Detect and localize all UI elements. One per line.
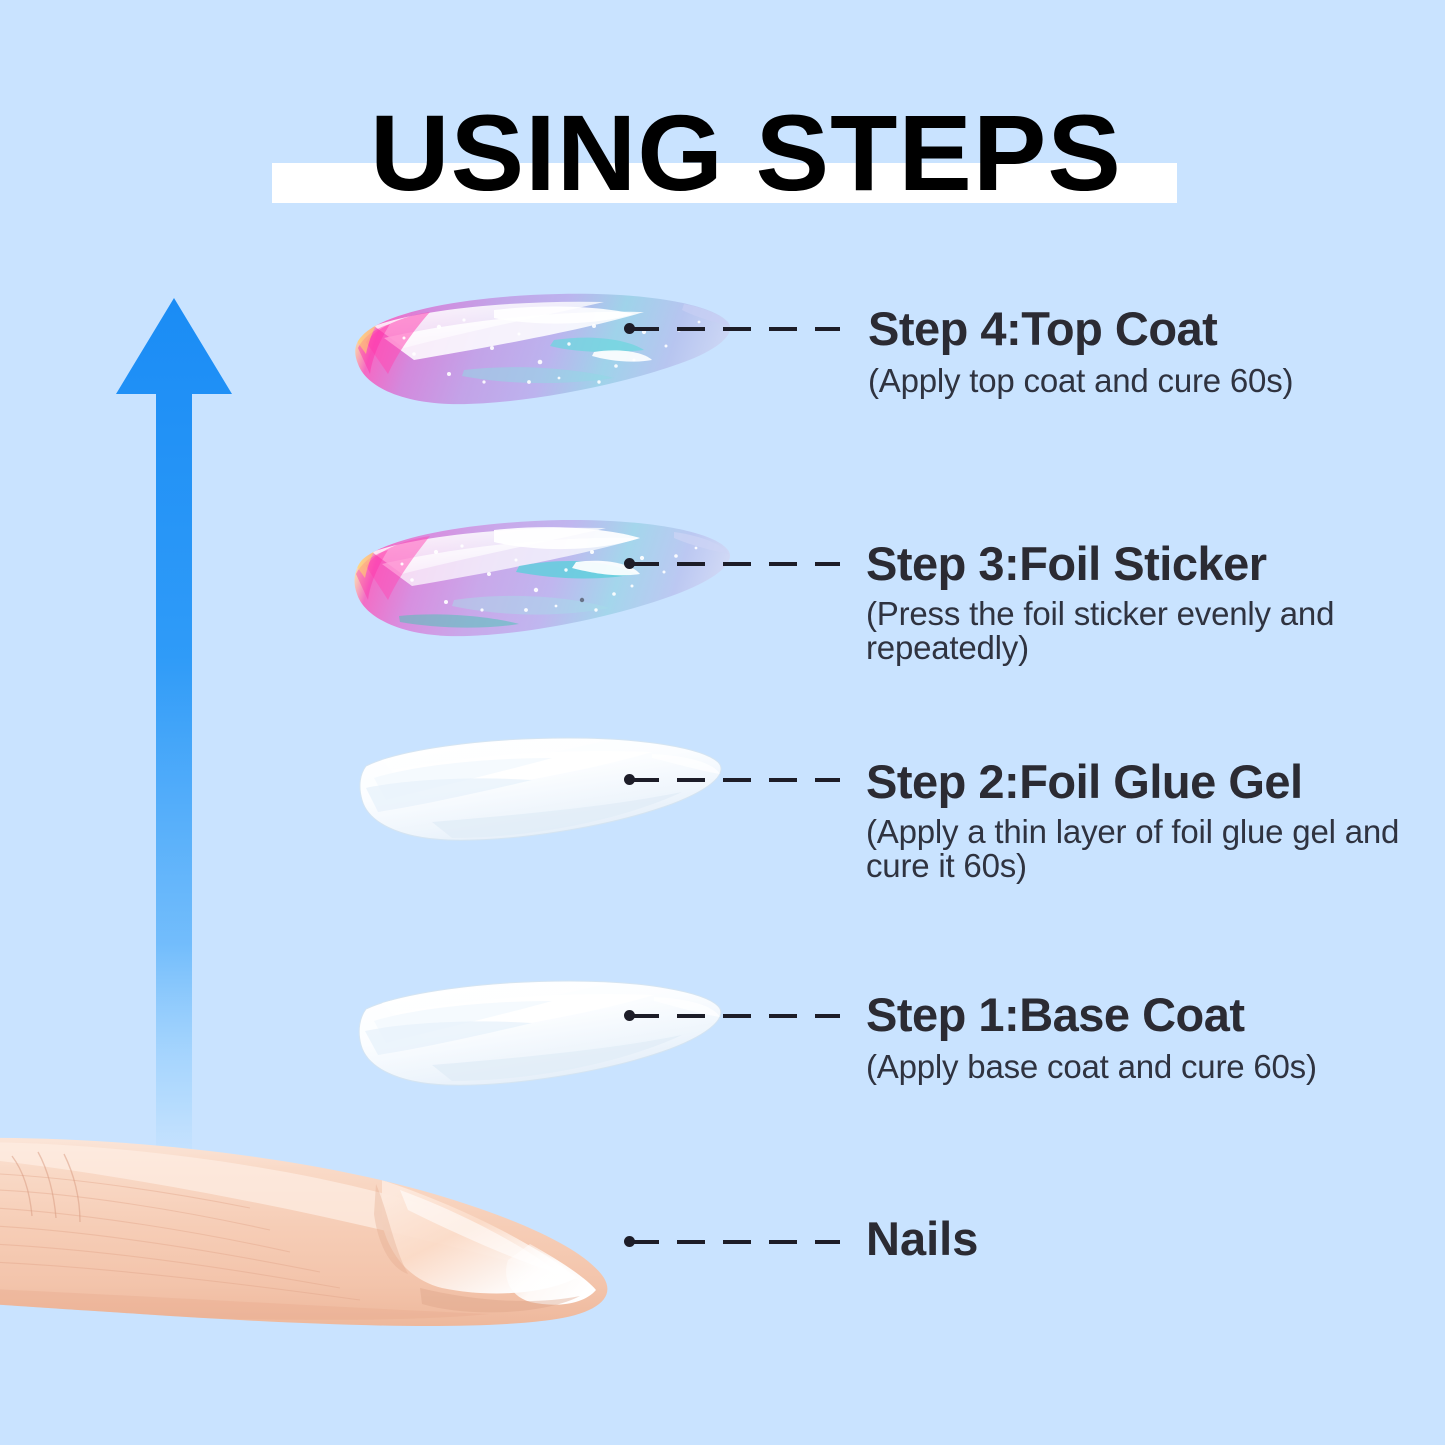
step-4-subtitle: (Apply top coat and cure 60s)	[868, 362, 1408, 400]
leader-dashes	[631, 1014, 840, 1018]
step-3-subtitle-line-2: repeatedly)	[866, 631, 1366, 665]
leader-line-step-4	[624, 319, 840, 337]
step-2-title: Step 2:Foil Glue Gel	[866, 755, 1406, 809]
infographic-page: USING STEPS	[0, 0, 1445, 1445]
step-4-labels: Step 4:Top Coat (Apply top coat and cure…	[868, 302, 1408, 400]
step-1-title: Step 1:Base Coat	[866, 988, 1386, 1042]
step-3-subtitle-line-1: (Press the foil sticker evenly and	[866, 597, 1366, 631]
nail-image-step-1	[352, 975, 732, 1093]
step-1-subtitle: (Apply base coat and cure 60s)	[866, 1048, 1386, 1086]
step-4-title: Step 4:Top Coat	[868, 302, 1408, 356]
leader-line-nails	[624, 1232, 840, 1250]
step-3-title: Step 3:Foil Sticker	[866, 537, 1366, 591]
fingertip-image	[0, 1128, 650, 1388]
leader-dashes	[631, 1240, 840, 1244]
step-2-subtitle-line-1: (Apply a thin layer of foil glue gel and	[866, 815, 1406, 849]
step-3-labels: Step 3:Foil Sticker (Press the foil stic…	[866, 537, 1366, 665]
nail-image-step-2	[352, 730, 732, 848]
nails-title: Nails	[866, 1212, 1166, 1266]
leader-dashes	[631, 562, 840, 566]
nail-image-step-4	[344, 282, 736, 414]
leader-line-step-1	[624, 1006, 840, 1024]
leader-line-step-2	[624, 770, 840, 788]
upward-progress-arrow-icon	[112, 296, 236, 1196]
step-2-labels: Step 2:Foil Glue Gel (Apply a thin layer…	[866, 755, 1406, 883]
step-1-labels: Step 1:Base Coat (Apply base coat and cu…	[866, 988, 1386, 1086]
leader-dashes	[631, 778, 840, 782]
step-2-subtitle-line-2: cure it 60s)	[866, 849, 1406, 883]
leader-line-step-3	[624, 554, 840, 572]
page-title: USING STEPS	[370, 97, 1104, 209]
nails-labels: Nails	[866, 1212, 1166, 1266]
nail-image-step-3	[344, 512, 736, 644]
leader-dashes	[631, 327, 840, 331]
